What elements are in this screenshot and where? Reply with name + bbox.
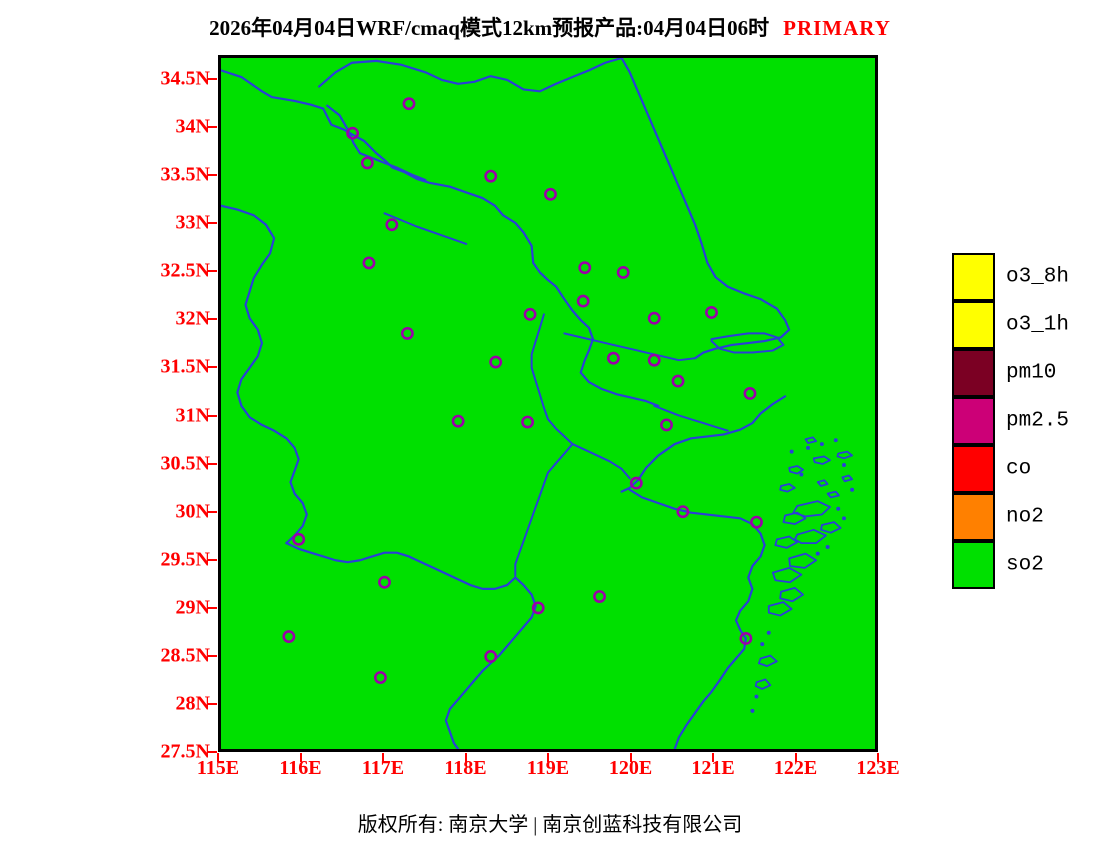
- map-boundary-line: [818, 480, 828, 486]
- map-island-dot: [850, 488, 854, 492]
- y-tick-mark: [208, 415, 217, 417]
- station-marker[interactable]: [453, 416, 463, 426]
- y-tick-mark: [208, 463, 217, 465]
- y-tick-mark: [208, 511, 217, 513]
- map-boundary-line: [783, 513, 805, 524]
- legend-label: pm2.5: [1006, 410, 1069, 433]
- legend-item[interactable]: o3_1h: [952, 301, 1092, 349]
- map-island-dot: [755, 695, 759, 699]
- legend-item[interactable]: o3_8h: [952, 253, 1092, 301]
- legend-color-swatch: [952, 541, 995, 589]
- station-marker[interactable]: [545, 189, 555, 199]
- station-marker[interactable]: [706, 307, 716, 317]
- y-tick-mark: [208, 222, 217, 224]
- map-boundary-line: [564, 333, 695, 360]
- station-marker[interactable]: [751, 517, 761, 527]
- station-marker[interactable]: [594, 591, 604, 601]
- y-tick-mark: [208, 270, 217, 272]
- station-marker[interactable]: [649, 313, 659, 323]
- map-boundary-line: [821, 522, 841, 533]
- station-marker[interactable]: [525, 309, 535, 319]
- map-boundary-line: [780, 588, 803, 601]
- map-boundary-line: [675, 545, 765, 749]
- copyright-footer: 版权所有: 南京大学 | 南京创蓝科技有限公司: [0, 808, 1100, 837]
- x-tick-mark: [382, 753, 384, 762]
- map-boundary-line: [789, 466, 803, 474]
- y-tick-label: 33N: [176, 212, 210, 235]
- station-marker[interactable]: [618, 267, 628, 277]
- legend-color-swatch: [952, 493, 995, 541]
- y-tick-mark: [208, 559, 217, 561]
- y-tick-label: 31N: [176, 404, 210, 427]
- map-boundary-line: [814, 456, 830, 464]
- y-tick-label: 31.5N: [161, 356, 210, 379]
- map-island-dot: [806, 446, 810, 450]
- y-tick-label: 32.5N: [161, 260, 210, 283]
- station-marker[interactable]: [649, 355, 659, 365]
- map-boundary-line: [286, 543, 515, 589]
- map-boundary-line: [775, 536, 797, 547]
- map-island-dot: [799, 473, 803, 477]
- legend-item[interactable]: pm2.5: [952, 397, 1092, 445]
- map-boundary-line: [622, 396, 786, 491]
- y-tick-label: 29N: [176, 596, 210, 619]
- station-marker[interactable]: [578, 296, 588, 306]
- legend-item[interactable]: co: [952, 445, 1092, 493]
- map-boundary-line: [446, 577, 536, 749]
- map-boundary-line: [221, 70, 658, 405]
- station-marker[interactable]: [294, 534, 304, 544]
- y-tick-label: 29.5N: [161, 548, 210, 571]
- station-marker[interactable]: [375, 672, 385, 682]
- y-tick-label: 28N: [176, 692, 210, 715]
- station-marker[interactable]: [387, 220, 397, 230]
- y-tick-mark: [208, 703, 217, 705]
- map-boundary-line: [327, 106, 425, 180]
- x-tick-mark: [712, 753, 714, 762]
- map-island-dot: [826, 545, 830, 549]
- map-island-dot: [790, 450, 794, 454]
- station-marker[interactable]: [745, 388, 755, 398]
- x-tick-mark: [300, 753, 302, 762]
- legend-label: pm10: [1006, 362, 1056, 385]
- map-boundary-line: [837, 452, 852, 459]
- y-tick-label: 34.5N: [161, 68, 210, 91]
- legend-label: so2: [1006, 554, 1044, 577]
- y-tick-label: 30N: [176, 500, 210, 523]
- station-marker[interactable]: [364, 258, 374, 268]
- y-tick-label: 28.5N: [161, 644, 210, 667]
- x-tick-mark: [465, 753, 467, 762]
- map-island-dot: [767, 631, 771, 635]
- map-boundary-line: [828, 492, 839, 498]
- station-marker[interactable]: [402, 328, 412, 338]
- station-marker[interactable]: [580, 263, 590, 273]
- map-boundary-line: [630, 490, 765, 545]
- pollutant-legend: o3_8ho3_1hpm10pm2.5cono2so2: [952, 253, 1092, 589]
- map-boundary-line: [515, 444, 572, 575]
- map-boundary-line: [759, 656, 777, 667]
- map-boundary-line: [789, 554, 816, 568]
- station-marker[interactable]: [362, 158, 372, 168]
- map-boundary-line: [773, 568, 802, 582]
- legend-label: o3_8h: [1006, 266, 1069, 289]
- y-tick-mark: [208, 78, 217, 80]
- y-tick-mark: [208, 751, 217, 753]
- station-marker[interactable]: [608, 353, 618, 363]
- title-primary-badge: PRIMARY: [783, 16, 891, 40]
- y-tick-mark: [208, 126, 217, 128]
- x-tick-mark: [217, 753, 219, 762]
- legend-item[interactable]: pm10: [952, 349, 1092, 397]
- station-marker[interactable]: [404, 99, 414, 109]
- y-tick-mark: [208, 366, 217, 368]
- station-marker[interactable]: [522, 417, 532, 427]
- map-island-dot: [842, 516, 846, 520]
- y-tick-mark: [208, 655, 217, 657]
- map-island-dot: [836, 507, 840, 511]
- x-tick-mark: [547, 753, 549, 762]
- map-boundary-line: [756, 679, 771, 689]
- legend-label: no2: [1006, 506, 1044, 529]
- map-island-dot: [842, 463, 846, 467]
- legend-color-swatch: [952, 397, 995, 445]
- legend-color-swatch: [952, 445, 995, 493]
- station-marker[interactable]: [661, 420, 671, 430]
- map-geography-canvas: [221, 58, 875, 749]
- station-marker[interactable]: [486, 651, 496, 661]
- y-tick-mark: [208, 607, 217, 609]
- map-boundary-line: [221, 206, 307, 543]
- station-marker[interactable]: [491, 357, 501, 367]
- x-tick-mark: [630, 753, 632, 762]
- map-boundary-line: [795, 530, 826, 543]
- map-island-dot: [834, 438, 838, 442]
- map-boundary-line: [572, 444, 629, 478]
- map-boundary-line: [769, 602, 792, 615]
- legend-color-swatch: [952, 349, 995, 397]
- map-boundary-line: [654, 406, 728, 431]
- y-tick-label: 30.5N: [161, 452, 210, 475]
- x-tick-mark: [795, 753, 797, 762]
- map-island-dot: [816, 552, 820, 556]
- title-main-text: 2026年04月04日WRF/cmaq模式12km预报产品:04月04日06时: [209, 16, 769, 40]
- legend-label: o3_1h: [1006, 314, 1069, 337]
- y-tick-label: 32N: [176, 308, 210, 331]
- y-tick-mark: [208, 318, 217, 320]
- y-tick-label: 34N: [176, 116, 210, 139]
- legend-color-swatch: [952, 253, 995, 301]
- x-tick-mark: [877, 753, 879, 762]
- map-boundary-line: [842, 475, 852, 481]
- legend-item[interactable]: no2: [952, 493, 1092, 541]
- map-boundary-line: [806, 437, 817, 443]
- station-marker[interactable]: [486, 171, 496, 181]
- map-island-dot: [760, 642, 764, 646]
- station-marker[interactable]: [673, 376, 683, 386]
- legend-item[interactable]: so2: [952, 541, 1092, 589]
- legend-label: co: [1006, 458, 1031, 481]
- chart-title: 2026年04月04日WRF/cmaq模式12km预报产品:04月04日06时P…: [0, 12, 1100, 42]
- y-tick-mark: [208, 174, 217, 176]
- y-tick-label: 33.5N: [161, 164, 210, 187]
- map-boundary-line: [780, 484, 795, 492]
- station-marker[interactable]: [284, 631, 294, 641]
- station-marker[interactable]: [379, 577, 389, 587]
- map-island-dot: [820, 442, 824, 446]
- map-plot-area[interactable]: [218, 55, 878, 752]
- legend-color-swatch: [952, 301, 995, 349]
- map-boundary-line: [319, 58, 622, 91]
- map-island-dot: [750, 709, 754, 713]
